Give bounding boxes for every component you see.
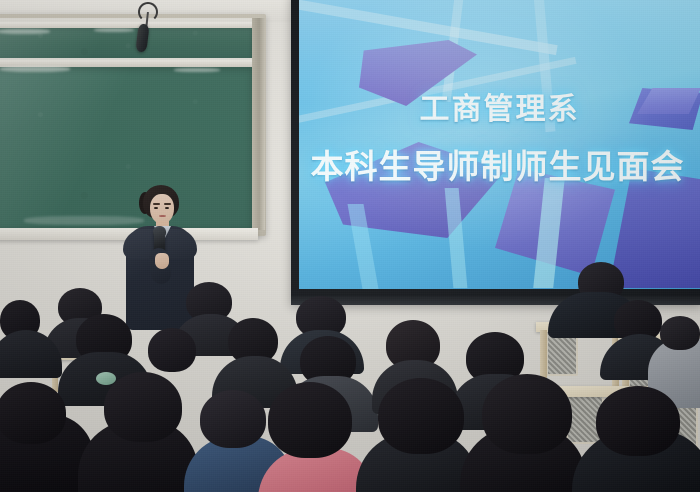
audience-head <box>0 382 66 444</box>
audience-head <box>104 372 182 442</box>
chalkboard-right-rail <box>252 18 265 230</box>
chalk-smudge <box>94 28 134 32</box>
chalk-smudge <box>174 68 220 72</box>
chalk-smudge <box>0 29 50 34</box>
chalk-smudge <box>0 66 70 72</box>
presenter-eyebrow <box>164 203 171 205</box>
presenter-face <box>150 194 174 224</box>
audience-head <box>596 386 680 456</box>
audience-head <box>482 374 572 454</box>
slide-title-line2: 本科生导师制师生见面会 <box>299 140 700 188</box>
chalkboard-sheen <box>0 66 252 228</box>
audience-head <box>200 390 266 448</box>
lecture-hall-photo: 工商管理系 本科生导师制师生见面会 <box>0 0 700 492</box>
presenter-eyebrow <box>153 203 160 205</box>
chalk-smudge <box>24 216 144 225</box>
audience-head <box>148 328 196 372</box>
audience-head <box>660 316 700 350</box>
presenter-hand <box>155 253 169 269</box>
audience-head <box>378 378 464 454</box>
projection-screen: 工商管理系 本科生导师制师生见面会 <box>299 0 700 289</box>
chalkboard-main-panel <box>0 66 252 228</box>
chalkboard-upper-panel <box>0 26 252 58</box>
slide-title-line1: 工商管理系 <box>299 84 700 128</box>
audience-head <box>268 382 352 458</box>
